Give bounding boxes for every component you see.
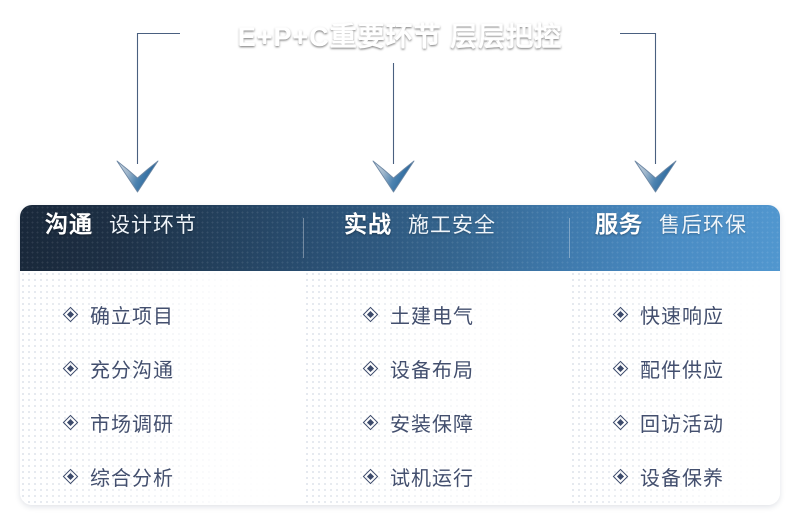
diamond-bullet-icon (64, 308, 77, 321)
list-item: 快速响应 (614, 287, 780, 341)
header-column-communication: 沟通 设计环节 (20, 205, 304, 271)
list-item-label: 安装保障 (390, 408, 474, 437)
list-item-label: 配件供应 (640, 354, 724, 383)
header-strong-label: 服务 (595, 205, 643, 239)
body-column-practice: 土建电气 设备布局 安装保障 试机运行 (304, 271, 570, 505)
panel-header-row: 沟通 设计环节 实战 施工安全 服务 售后环保 (20, 205, 780, 271)
list-item: 回访活动 (614, 395, 780, 449)
list-item: 配件供应 (614, 341, 780, 395)
connector-line-right (620, 34, 656, 165)
diamond-bullet-icon (614, 308, 627, 321)
header-strong-label: 实战 (344, 205, 392, 239)
diamond-bullet-icon (64, 416, 77, 429)
diamond-bullet-icon (364, 416, 377, 429)
header-column-service: 服务 售后环保 (570, 205, 780, 271)
list-item: 确立项目 (64, 287, 304, 341)
list-item: 充分沟通 (64, 341, 304, 395)
list-item-label: 快速响应 (640, 300, 724, 329)
list-item-label: 设备保养 (640, 462, 724, 491)
title-banner: E+P+C重要环节 层层把控 (180, 5, 620, 63)
list-item-label: 设备布局 (390, 354, 474, 383)
list-item: 市场调研 (64, 395, 304, 449)
infographic-root: E+P+C重要环节 层层把控 沟通 设计环节 实战 施工安全 服务 售后环保 (0, 0, 800, 530)
panel-body: 确立项目 充分沟通 市场调研 综合分析 (20, 271, 780, 505)
list-item: 安装保障 (364, 395, 570, 449)
list-item-label: 回访活动 (640, 408, 724, 437)
list-item-label: 确立项目 (90, 300, 174, 329)
list-item-label: 综合分析 (90, 462, 174, 491)
header-column-practice: 实战 施工安全 (304, 205, 570, 271)
list-item: 设备保养 (614, 449, 780, 503)
process-panel: 沟通 设计环节 实战 施工安全 服务 售后环保 确立项目 (20, 205, 780, 505)
header-light-label: 设计环节 (109, 209, 197, 239)
header-light-label: 施工安全 (408, 209, 496, 239)
arrow-middle-icon (373, 161, 414, 192)
diamond-bullet-icon (614, 362, 627, 375)
arrow-left-icon (117, 161, 158, 192)
header-strong-label: 沟通 (45, 205, 93, 239)
list-item-label: 市场调研 (90, 408, 174, 437)
diamond-bullet-icon (614, 416, 627, 429)
diamond-bullet-icon (364, 308, 377, 321)
list-item: 综合分析 (64, 449, 304, 503)
list-item: 设备布局 (364, 341, 570, 395)
list-item-label: 充分沟通 (90, 354, 174, 383)
list-item: 试机运行 (364, 449, 570, 503)
list-item-label: 土建电气 (390, 300, 474, 329)
diamond-bullet-icon (64, 470, 77, 483)
arrow-right-icon (635, 161, 676, 192)
list-item-label: 试机运行 (390, 462, 474, 491)
header-light-label: 售后环保 (659, 209, 747, 239)
body-column-service: 快速响应 配件供应 回访活动 设备保养 (570, 271, 780, 505)
list-item: 土建电气 (364, 287, 570, 341)
diamond-bullet-icon (64, 362, 77, 375)
body-column-communication: 确立项目 充分沟通 市场调研 综合分析 (20, 271, 304, 505)
diamond-bullet-icon (364, 470, 377, 483)
title-banner-text: E+P+C重要环节 层层把控 (238, 15, 563, 54)
connector-line-left (138, 34, 181, 165)
diamond-bullet-icon (614, 470, 627, 483)
diamond-bullet-icon (364, 362, 377, 375)
